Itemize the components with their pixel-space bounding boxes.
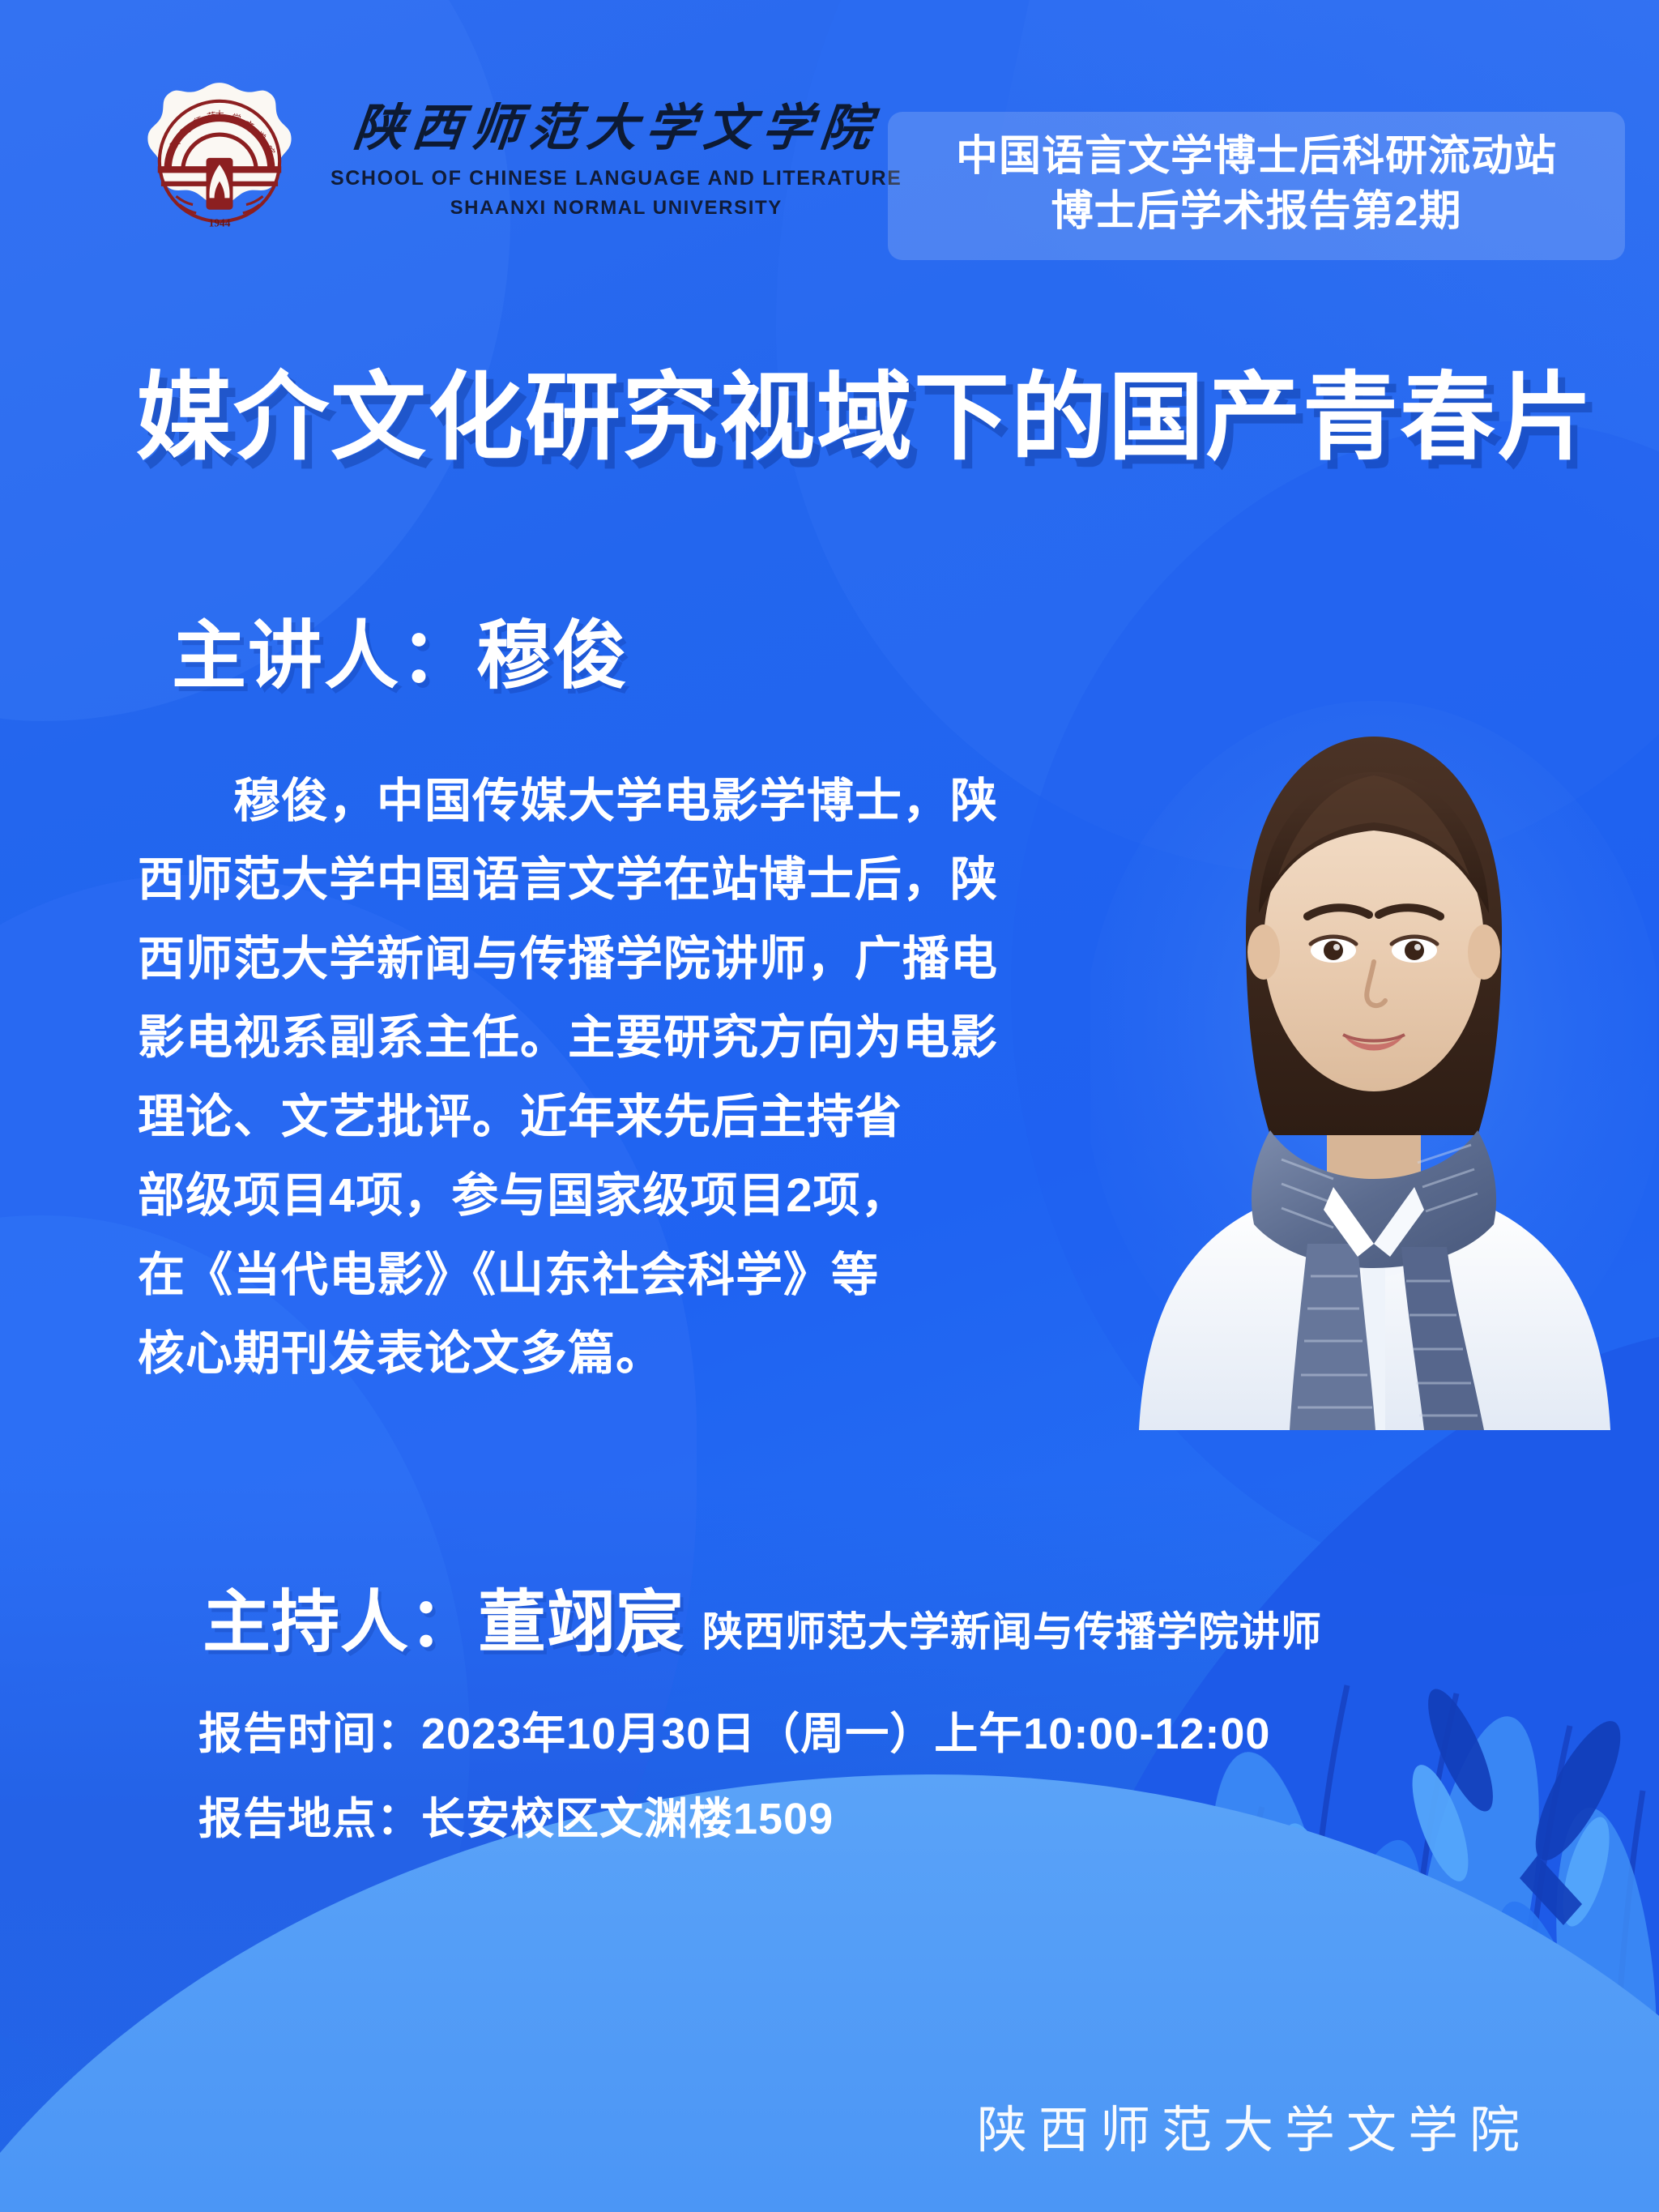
bio-line: 理论、文艺批评。近年来先后主持省 [138,1078,1199,1156]
university-wordmark: 陕西师范大学文学院 SCHOOL OF CHINESE LANGUAGE AND… [331,104,902,220]
host-affiliation: 陕西师范大学新闻与传播学院讲师 [702,1599,1322,1658]
series-badge-line-1: 中国语言文学博士后科研流动站 [904,130,1609,185]
poster-header: 1944 陕 西 师 范 大 学 文 学 院 陕西师范大学文学院 SCHOOL … [0,0,1659,292]
svg-text:大: 大 [215,109,224,120]
lecture-venue: 报告地点：长安校区文渊楼1509 [198,1783,834,1847]
university-crest-icon: 1944 陕 西 师 范 大 学 文 学 院 [136,78,303,245]
university-name-en-2: SHAANXI NORMAL UNIVERSITY [450,197,783,220]
speaker-heading: 主讲人：穆俊 [172,596,629,703]
speaker-portrait [1090,677,1657,1430]
university-logo-block: 1944 陕 西 师 范 大 学 文 学 院 陕西师范大学文学院 SCHOOL … [136,78,902,245]
series-badge-line-2: 博士后学术报告第2期 [904,185,1609,240]
host-row: 主持人：董翊宸 陕西师范大学新闻与传播学院讲师 [203,1568,1322,1666]
bio-line: 西师范大学中国语言文学在站博士后，陕 [138,840,1199,919]
bio-line: 穆俊，中国传媒大学电影学博士，陕 [138,762,1199,840]
bio-line: 西师范大学新闻与传播学院讲师，广播电 [138,920,1199,998]
lecture-time: 报告时间：2023年10月30日（周一）上午10:00-12:00 [198,1697,1270,1761]
bio-line: 核心期刊发表论文多篇。 [138,1314,1199,1393]
bio-line: 影电视系副系主任。主要研究方向为电影 [138,998,1199,1077]
university-name-cn: 陕西师范大学文学院 [351,104,881,154]
lecture-poster: 1944 陕 西 师 范 大 学 文 学 院 陕西师范大学文学院 SCHOOL … [0,0,1659,2212]
crest-year: 1944 [209,216,231,228]
bio-line: 在《当代电影》《山东社会科学》等 [138,1236,1199,1314]
series-badge: 中国语言文学博士后科研流动站 博士后学术报告第2期 [888,112,1625,260]
lecture-title: 媒介文化研究视域下的国产青春片 [136,365,1586,472]
host-label: 主持人：董翊宸 [203,1568,684,1666]
university-name-en-1: SCHOOL OF CHINESE LANGUAGE AND LITERATUR… [331,167,902,190]
footer-organization: 陕西师范大学文学院 [977,2089,1531,2162]
speaker-biography: 穆俊，中国传媒大学电影学博士，陕 西师范大学中国语言文学在站博士后，陕 西师范大… [138,762,1199,1394]
bio-line: 部级项目4项，参与国家级项目2项， [138,1156,1199,1235]
